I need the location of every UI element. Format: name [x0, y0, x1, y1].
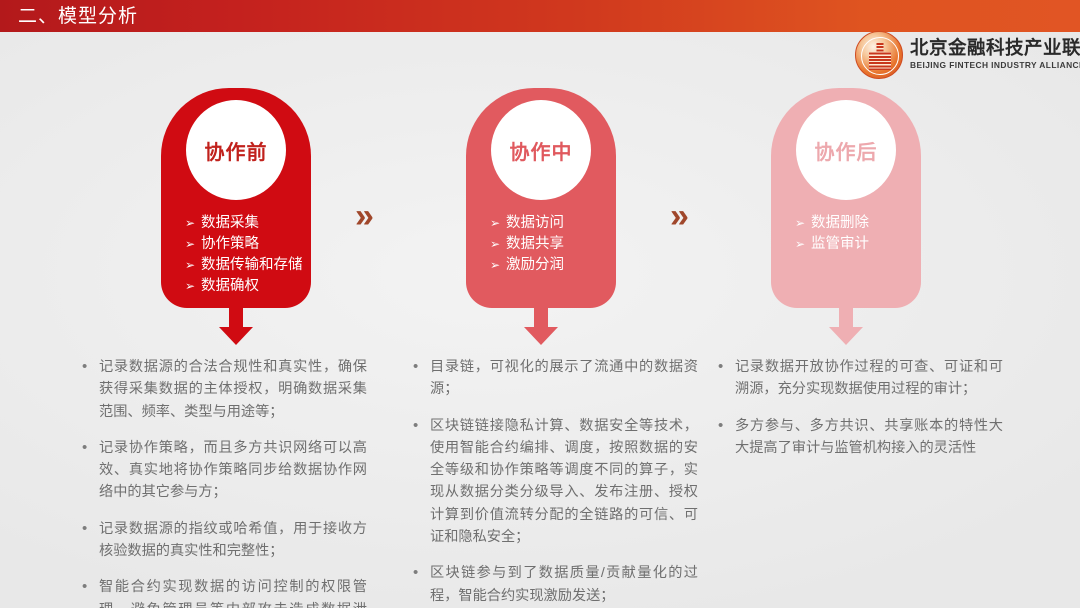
list-item: • 记录协作策略，而且多方共识网络可以高效、真实地将协作策略同步给数据协作网络中…: [82, 437, 367, 504]
list-item: ➢ 监管审计: [795, 234, 925, 255]
list-item: • 记录数据源的指纹或哈希值，用于接收方核验数据的真实性和完整性；: [82, 518, 367, 563]
chevron-right-connector-1: »: [355, 196, 372, 236]
arrow-bullet-icon: ➢: [185, 234, 201, 255]
stage-title: 协作后: [815, 136, 878, 165]
chevron-right-connector-2: »: [670, 196, 687, 236]
down-arrow-icon-1: [215, 303, 257, 345]
list-item: • 智能合约实现数据的访问控制的权限管理，避免管理员等内部攻击造成数据泄露；: [82, 576, 367, 608]
stage-card-after[interactable]: 协作后 ➢ 数据删除 ➢ 监管审计: [771, 88, 921, 308]
list-item-label: 激励分润: [506, 255, 564, 276]
dot-bullet-icon: •: [82, 576, 99, 598]
arrow-bullet-icon: ➢: [185, 213, 201, 234]
stage-title-badge: 协作后: [796, 100, 896, 200]
dot-bullet-icon: •: [413, 562, 430, 584]
list-item-text: 区块链链接隐私计算、数据安全等技术，使用智能合约编排、调度，按照数据的安全等级和…: [430, 415, 698, 549]
down-arrow-icon-2: [520, 303, 562, 345]
list-item: • 记录数据开放协作过程的可查、可证和可溯源，充分实现数据使用过程的审计；: [718, 356, 1003, 401]
stage-item-list: ➢ 数据删除 ➢ 监管审计: [795, 213, 925, 255]
arrow-bullet-icon: ➢: [490, 213, 506, 234]
stage-item-list: ➢ 数据采集 ➢ 协作策略 ➢ 数据传输和存储 ➢ 数据确权: [185, 213, 315, 297]
alliance-emblem-icon: [855, 31, 903, 79]
logo-text-block: 北京金融科技产业联盟 BEIJING FINTECH INDUSTRY ALLI…: [910, 38, 1080, 71]
dot-bullet-icon: •: [82, 356, 99, 378]
detail-column-after: • 记录数据开放协作过程的可查、可证和可溯源，充分实现数据使用过程的审计； • …: [718, 356, 1003, 473]
list-item-text: 多方参与、多方共识、共享账本的特性大大提高了审计与监管机构接入的灵活性: [735, 415, 1003, 460]
list-item-label: 数据传输和存储: [201, 255, 303, 276]
list-item: ➢ 协作策略: [185, 234, 315, 255]
arrow-bullet-icon: ➢: [490, 234, 506, 255]
arrow-bullet-icon: ➢: [490, 255, 506, 276]
list-item: ➢ 激励分润: [490, 255, 620, 276]
dot-bullet-icon: •: [413, 356, 430, 378]
list-item-text: 目录链，可视化的展示了流通中的数据资源；: [430, 356, 698, 401]
list-item: • 记录数据源的合法合规性和真实性，确保获得采集数据的主体授权，明确数据采集范围…: [82, 356, 367, 423]
organization-logo: 北京金融科技产业联盟 BEIJING FINTECH INDUSTRY ALLI…: [855, 31, 1080, 79]
list-item-label: 协作策略: [201, 234, 259, 255]
list-item: ➢ 数据传输和存储: [185, 255, 315, 276]
detail-column-during: • 目录链，可视化的展示了流通中的数据资源； • 区块链链接隐私计算、数据安全等…: [413, 356, 698, 608]
list-item-label: 数据确权: [201, 276, 259, 297]
logo-subtitle: BEIJING FINTECH INDUSTRY ALLIANCE: [910, 59, 1080, 72]
list-item-text: 记录数据开放协作过程的可查、可证和可溯源，充分实现数据使用过程的审计；: [735, 356, 1003, 401]
list-item: ➢ 数据删除: [795, 213, 925, 234]
list-item-label: 数据共享: [506, 234, 564, 255]
arrow-bullet-icon: ➢: [185, 276, 201, 297]
list-item: ➢ 数据采集: [185, 213, 315, 234]
dot-bullet-icon: •: [82, 437, 99, 459]
dot-bullet-icon: •: [82, 518, 99, 540]
list-item-label: 数据访问: [506, 213, 564, 234]
dot-bullet-icon: •: [413, 415, 430, 437]
stage-title: 协作中: [510, 136, 573, 165]
arrow-bullet-icon: ➢: [185, 255, 201, 276]
list-item-label: 数据删除: [811, 213, 869, 234]
list-item: • 目录链，可视化的展示了流通中的数据资源；: [413, 356, 698, 401]
list-item-text: 智能合约实现数据的访问控制的权限管理，避免管理员等内部攻击造成数据泄露；: [99, 576, 367, 608]
list-item: • 区块链参与到了数据质量/贡献量化的过程，智能合约实现激励发送；: [413, 562, 698, 607]
list-item-text: 记录数据源的指纹或哈希值，用于接收方核验数据的真实性和完整性；: [99, 518, 367, 563]
list-item: ➢ 数据访问: [490, 213, 620, 234]
stage-title-badge: 协作前: [186, 100, 286, 200]
down-arrow-icon-3: [825, 303, 867, 345]
list-item: • 多方参与、多方共识、共享账本的特性大大提高了审计与监管机构接入的灵活性: [718, 415, 1003, 460]
list-item: • 区块链链接隐私计算、数据安全等技术，使用智能合约编排、调度，按照数据的安全等…: [413, 415, 698, 549]
list-item-text: 记录数据源的合法合规性和真实性，确保获得采集数据的主体授权，明确数据采集范围、频…: [99, 356, 367, 423]
detail-column-before: • 记录数据源的合法合规性和真实性，确保获得采集数据的主体授权，明确数据采集范围…: [82, 356, 367, 608]
logo-name: 北京金融科技产业联盟: [910, 38, 1080, 59]
dot-bullet-icon: •: [718, 415, 735, 437]
list-item-label: 监管审计: [811, 234, 869, 255]
stage-card-during[interactable]: 协作中 ➢ 数据访问 ➢ 数据共享 ➢ 激励分润: [466, 88, 616, 308]
stage-card-before[interactable]: 协作前 ➢ 数据采集 ➢ 协作策略 ➢ 数据传输和存储 ➢ 数据确权: [161, 88, 311, 308]
dot-bullet-icon: •: [718, 356, 735, 378]
stage-item-list: ➢ 数据访问 ➢ 数据共享 ➢ 激励分润: [490, 213, 620, 276]
slide-canvas: 二、模型分析 北京金融科技产业联盟 BEIJING FINTECH INDUST…: [0, 0, 1080, 608]
list-item-label: 数据采集: [201, 213, 259, 234]
list-item: ➢ 数据确权: [185, 276, 315, 297]
list-item-text: 记录协作策略，而且多方共识网络可以高效、真实地将协作策略同步给数据协作网络中的其…: [99, 437, 367, 504]
header-bar: [0, 0, 1080, 32]
building-mark-icon: [869, 43, 891, 70]
stage-title: 协作前: [205, 136, 268, 165]
arrow-bullet-icon: ➢: [795, 213, 811, 234]
list-item: ➢ 数据共享: [490, 234, 620, 255]
page-title: 二、模型分析: [18, 1, 138, 32]
list-item-text: 区块链参与到了数据质量/贡献量化的过程，智能合约实现激励发送；: [430, 562, 698, 607]
stage-title-badge: 协作中: [491, 100, 591, 200]
arrow-bullet-icon: ➢: [795, 234, 811, 255]
